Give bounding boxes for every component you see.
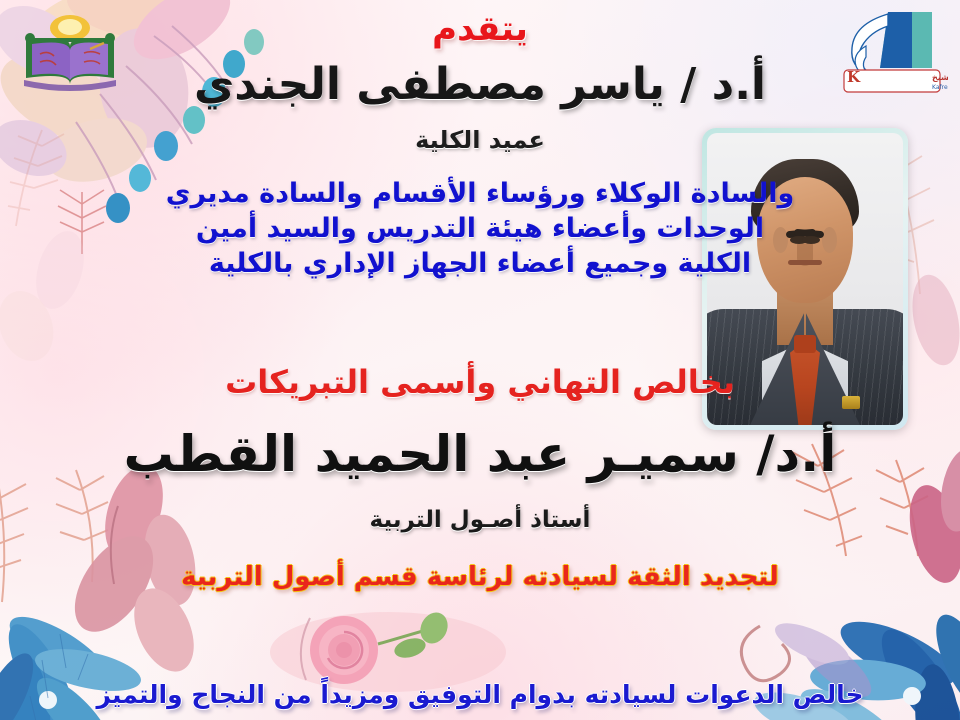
congratulation-card: K جامعة كفر الشيخ Kafrelsheikh Universit… — [0, 0, 960, 720]
dean-title: عميد الكلية — [0, 128, 960, 153]
senders-block: والسادة الوكلاء ورؤساء الأقسام والسادة م… — [0, 176, 960, 281]
intro-text: يتقدم — [0, 12, 960, 48]
senders-line-1: والسادة الوكلاء ورؤساء الأقسام والسادة م… — [0, 176, 960, 211]
honoree-name: أ.د/ سميـر عبد الحميد القطب — [0, 428, 960, 481]
honoree-reason: لتجديد الثقة لسيادته لرئاسة قسم أصول الت… — [0, 564, 960, 591]
closing-wishes: خالص الدعوات لسيادته بدوام التوفيق ومزيد… — [0, 682, 960, 708]
senders-line-3: الكلية وجميع أعضاء الجهاز الإداري بالكلي… — [0, 246, 960, 281]
dean-name: أ.د / ياسر مصطفى الجندي — [0, 62, 960, 108]
portrait-tie-knot — [794, 335, 816, 353]
honoree-title: أستاذ أصـول التربية — [0, 508, 960, 532]
congratulations-text: بخالص التهاني وأسمى التبريكات — [0, 366, 960, 400]
senders-line-2: الوحدات وأعضاء هيئة التدريس والسيد أمين — [0, 211, 960, 246]
